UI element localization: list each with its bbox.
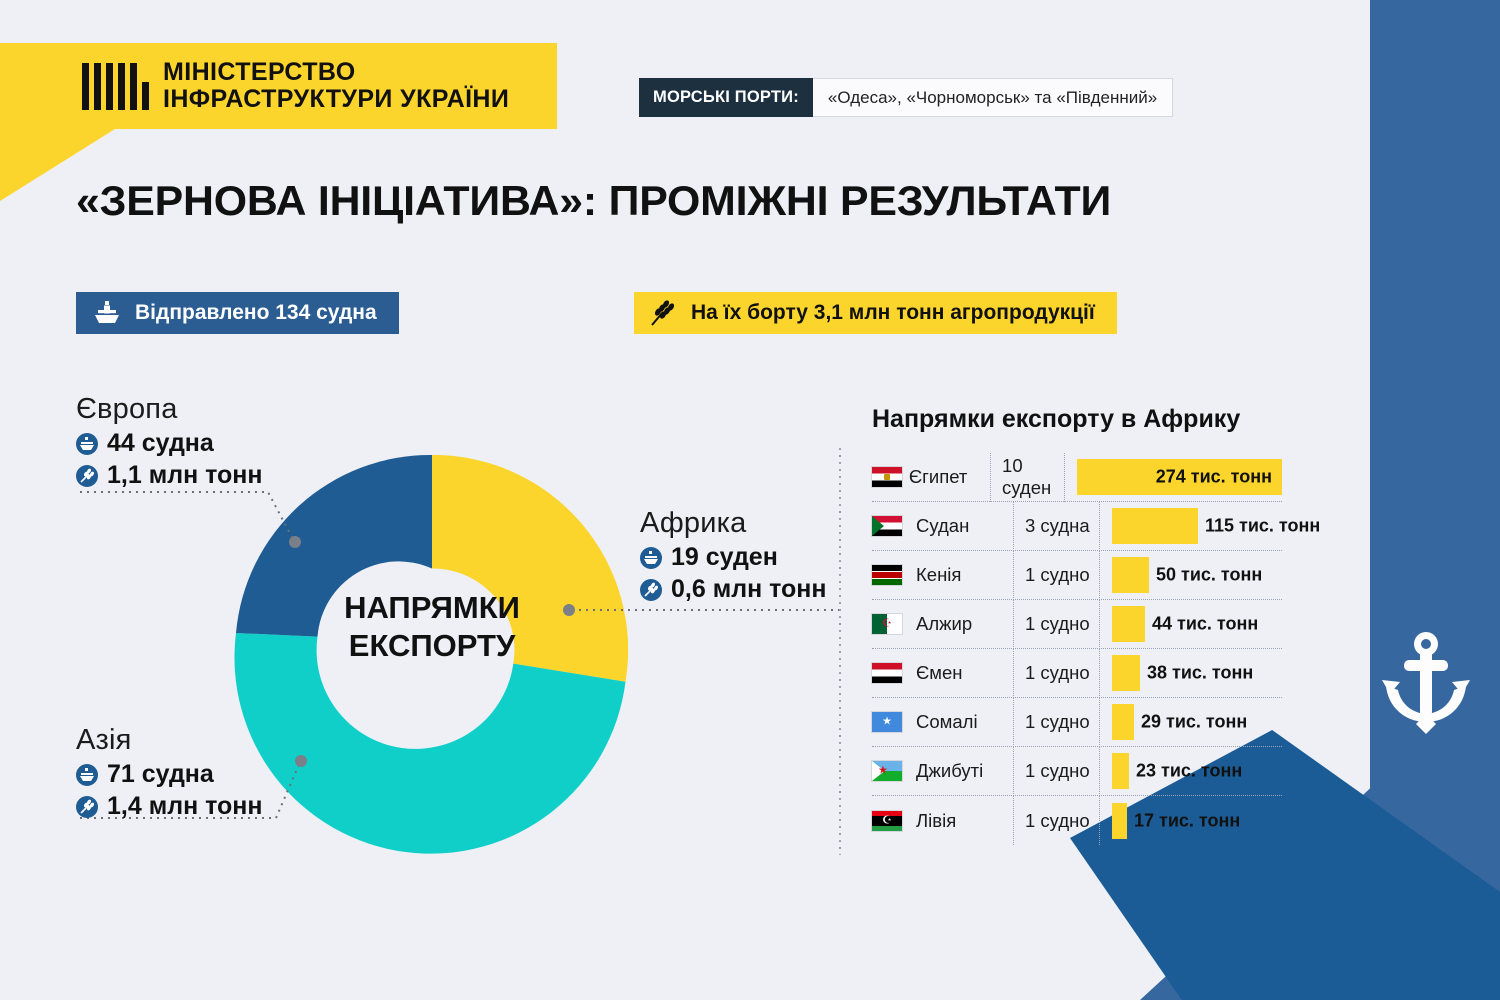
ships-dispatched-badge: Відправлено 134 судна (76, 292, 399, 334)
logo-text: МІНІСТЕРСТВО ІНФРАСТРУКТУРИ УКРАЇНИ (163, 59, 509, 113)
right-blue-panel (1370, 0, 1500, 1000)
flag-kenya-icon (872, 565, 902, 585)
region-ships-value-asia: 71 судна (107, 760, 214, 789)
region-label-europe: Європа 44 судна 1,1 млн тонн (76, 393, 263, 490)
region-ships-value-europe: 44 судна (107, 429, 214, 458)
country-flag-cell (872, 516, 916, 536)
anchor-icon (1378, 630, 1474, 740)
table-row-кенія[interactable]: Кенія 1 судно 50 тис. тонн (872, 551, 1282, 600)
flag-libya-icon: ☪ (872, 811, 902, 831)
tonnage-value: 17 тис. тонн (1134, 810, 1240, 831)
wheat-circle-icon (76, 465, 98, 487)
africa-panel-title: Напрямки експорту в Африку (872, 405, 1240, 434)
wheat-circle-icon (76, 796, 98, 818)
tonnage-value: 50 тис. тонн (1156, 565, 1262, 586)
region-label-asia: Азія 71 судна 1,4 млн тонн (76, 724, 263, 821)
region-name-africa: Африка (640, 507, 827, 540)
ships-count-cell: 1 судно (1014, 600, 1100, 649)
ship-icon (92, 300, 122, 326)
sea-ports-strip: МОРСЬКІ ПОРТИ: «Одеса», «Чорноморськ» та… (639, 78, 1173, 117)
wheat-circle-icon (640, 579, 662, 601)
region-tonnage-value-asia: 1,4 млн тонн (107, 792, 263, 821)
region-tonnage-europe: 1,1 млн тонн (76, 461, 263, 490)
country-name-cell: Судан (916, 502, 1014, 551)
ship-circle-icon (76, 433, 98, 455)
table-row-єгипет[interactable]: Єгипет 10 суден 274 тис. тонн (872, 453, 1282, 502)
ship-circle-icon (640, 547, 662, 569)
country-flag-cell: ★ (872, 712, 916, 732)
table-row-алжир[interactable]: ☪ Алжир 1 судно 44 тис. тонн (872, 600, 1282, 649)
flag-yemen-icon (872, 663, 902, 683)
africa-export-table: Єгипет 10 суден 274 тис. тонн Судан 3 су… (872, 453, 1282, 845)
country-flag-cell (872, 467, 909, 487)
flag-sudan-icon (872, 516, 902, 536)
country-name-cell: Сомалі (916, 698, 1014, 747)
ships-count-cell: 1 судно (1014, 698, 1100, 747)
logo-line-1: МІНІСТЕРСТВО (163, 59, 509, 86)
country-flag-cell: ☪ (872, 811, 916, 831)
region-ships-asia: 71 судна (76, 760, 263, 789)
country-name-cell: Алжир (916, 600, 1014, 649)
country-name-cell: Єгипет (909, 453, 991, 502)
ships-count-cell: 1 судно (1014, 649, 1100, 698)
tonnage-bar (1112, 557, 1149, 593)
flag-djibouti-icon: ★ (872, 761, 902, 781)
country-flag-cell (872, 663, 916, 683)
donut-center-line-2: ЕКСПОРТУ (349, 628, 516, 663)
country-flag-cell (872, 565, 916, 585)
flag-algeria-icon: ☪ (872, 614, 902, 634)
table-row-сомалі[interactable]: ★ Сомалі 1 судно 29 тис. тонн (872, 698, 1282, 747)
region-ships-europe: 44 судна (76, 429, 263, 458)
region-name-europe: Європа (76, 393, 263, 426)
ships-count-cell: 1 судно (1014, 551, 1100, 600)
region-label-africa: Африка 19 суден 0,6 млн тонн (640, 507, 827, 604)
ships-dispatched-text: Відправлено 134 судна (135, 301, 377, 325)
table-row-джибуті[interactable]: ★ Джибуті 1 судно 23 тис. тонн (872, 747, 1282, 796)
tonnage-bar-cell: 23 тис. тонн (1100, 747, 1282, 796)
tonnage-bar (1112, 704, 1134, 740)
ships-count-cell: 3 судна (1014, 502, 1100, 551)
tonnage-bar (1112, 753, 1129, 789)
table-row-ємен[interactable]: Ємен 1 судно 38 тис. тонн (872, 649, 1282, 698)
country-name-cell: Лівія (916, 796, 1014, 845)
tonnage-bar (1112, 803, 1127, 839)
country-flag-cell: ☪ (872, 614, 916, 634)
ministry-logo: МІНІСТЕРСТВО ІНФРАСТРУКТУРИ УКРАЇНИ (0, 43, 557, 129)
region-name-asia: Азія (76, 724, 263, 757)
ships-count-cell: 1 судно (1014, 796, 1100, 845)
export-directions-donut: НАПРЯМКИ ЕКСПОРТУ (222, 440, 642, 860)
sea-ports-value: «Одеса», «Чорноморськ» та «Південний» (813, 78, 1173, 117)
tonnage-bar-cell: 17 тис. тонн (1100, 796, 1282, 845)
page-title: «ЗЕРНОВА ІНІЦІАТИВА»: ПРОМІЖНІ РЕЗУЛЬТАТ… (76, 177, 1111, 225)
region-tonnage-value-europe: 1,1 млн тонн (107, 461, 263, 490)
cargo-onboard-badge: На їх борту 3,1 млн тонн агропродукції (634, 292, 1117, 334)
donut-center-line-1: НАПРЯМКИ (344, 590, 520, 625)
tonnage-value: 44 тис. тонн (1152, 614, 1258, 635)
tonnage-bar-cell: 38 тис. тонн (1100, 649, 1282, 698)
country-name-cell: Ємен (916, 649, 1014, 698)
tonnage-bar-cell: 274 тис. тонн (1065, 453, 1282, 502)
tonnage-value: 23 тис. тонн (1136, 761, 1242, 782)
tonnage-value: 274 тис. тонн (1156, 467, 1272, 488)
flag-egypt-icon (872, 467, 902, 487)
barcode-bars-icon (82, 63, 149, 110)
region-ships-africa: 19 суден (640, 543, 827, 572)
tonnage-bar (1112, 508, 1198, 544)
table-row-лівія[interactable]: ☪ Лівія 1 судно 17 тис. тонн (872, 796, 1282, 845)
region-tonnage-value-africa: 0,6 млн тонн (671, 575, 827, 604)
country-name-cell: Джибуті (916, 747, 1014, 796)
tonnage-bar (1112, 606, 1145, 642)
tonnage-value: 38 тис. тонн (1147, 663, 1253, 684)
country-name-cell: Кенія (916, 551, 1014, 600)
country-flag-cell: ★ (872, 761, 916, 781)
tonnage-value: 115 тис. тонн (1205, 516, 1320, 537)
wheat-icon (650, 300, 678, 327)
tonnage-bar-cell: 115 тис. тонн (1100, 502, 1282, 551)
region-tonnage-asia: 1,4 млн тонн (76, 792, 263, 821)
tonnage-bar-cell: 44 тис. тонн (1100, 600, 1282, 649)
tonnage-bar-cell: 50 тис. тонн (1100, 551, 1282, 600)
tonnage-bar-cell: 29 тис. тонн (1100, 698, 1282, 747)
logo-line-2: ІНФРАСТРУКТУРИ УКРАЇНИ (163, 86, 509, 113)
table-row-судан[interactable]: Судан 3 судна 115 тис. тонн (872, 502, 1282, 551)
ships-count-cell: 10 суден (991, 453, 1065, 502)
sea-ports-label: МОРСЬКІ ПОРТИ: (639, 78, 813, 117)
tonnage-value: 29 тис. тонн (1141, 712, 1247, 733)
donut-svg: НАПРЯМКИ ЕКСПОРТУ (222, 440, 642, 860)
ships-count-cell: 1 судно (1014, 747, 1100, 796)
flag-somalia-icon: ★ (872, 712, 902, 732)
cargo-onboard-text: На їх борту 3,1 млн тонн агропродукції (691, 301, 1095, 325)
region-ships-value-africa: 19 суден (671, 543, 778, 572)
tonnage-bar (1112, 655, 1140, 691)
region-tonnage-africa: 0,6 млн тонн (640, 575, 827, 604)
ship-circle-icon (76, 764, 98, 786)
